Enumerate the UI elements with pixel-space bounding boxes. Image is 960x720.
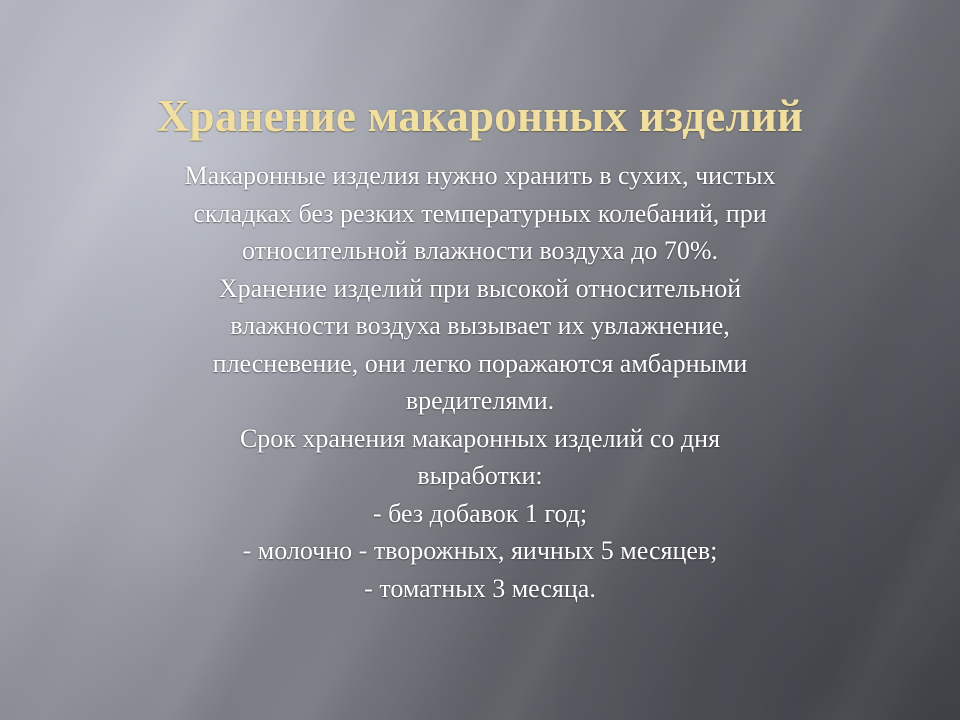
slide-content: Хранение макаронных изделий Макаронные и… bbox=[0, 0, 960, 720]
body-line: Макаронные изделия нужно хранить в сухих… bbox=[70, 157, 890, 195]
body-line: - молочно - творожных, яичных 5 месяцев; bbox=[70, 532, 890, 570]
body-line: - без добавок 1 год; bbox=[70, 495, 890, 533]
body-line: складках без резких температурных колеба… bbox=[70, 195, 890, 233]
body-line: влажности воздуха вызывает их увлажнение… bbox=[70, 307, 890, 345]
body-line: плесневение, они легко поражаются амбарн… bbox=[70, 345, 890, 383]
slide-title: Хранение макаронных изделий bbox=[0, 88, 960, 144]
presentation-slide: Хранение макаронных изделий Макаронные и… bbox=[0, 0, 960, 720]
body-line: Срок хранения макаронных изделий со дня bbox=[70, 420, 890, 458]
body-line: относительной влажности воздуха до 70%. bbox=[70, 232, 890, 270]
slide-body-text: Макаронные изделия нужно хранить в сухих… bbox=[70, 157, 890, 607]
body-line: - томатных 3 месяца. bbox=[70, 570, 890, 608]
body-line: Хранение изделий при высокой относительн… bbox=[70, 270, 890, 308]
body-line: выработки: bbox=[70, 457, 890, 495]
body-line: вредителями. bbox=[70, 382, 890, 420]
